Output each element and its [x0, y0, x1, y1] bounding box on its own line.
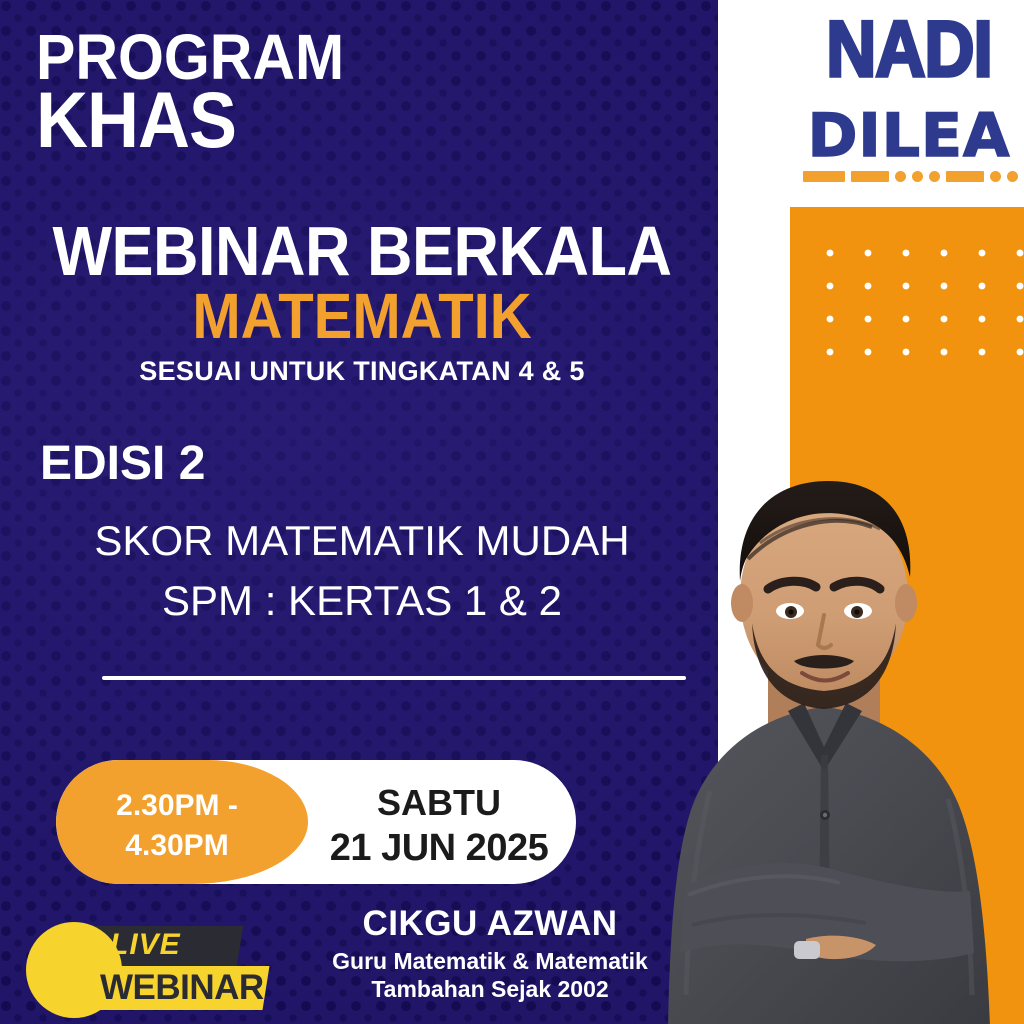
audience-label: SESUAI UNTUK TINGKATAN 4 & 5: [42, 358, 682, 385]
dilea-logo-bars: [801, 171, 1018, 182]
topic-line-1: SKOR MATEMATIK MUDAH: [42, 520, 682, 562]
dilea-logo-text: DILEA: [801, 106, 1018, 166]
dilea-dot-4: [990, 171, 1001, 182]
dilea-dot-2: [912, 171, 923, 182]
dilea-logo: DILEA: [801, 106, 1018, 182]
webinar-poster: NADI DILEA PROGRAM KHAS WEBINAR BERKALA …: [0, 0, 1024, 1024]
dilea-bar-3: [946, 171, 984, 182]
dilea-dot-3: [929, 171, 940, 182]
schedule-pill: 2.30PM - 4.30PM SABTU 21 JUN 2025: [56, 760, 576, 884]
live-label: LIVE: [110, 930, 181, 960]
section-divider: [102, 676, 686, 680]
edition-label: EDISI 2: [40, 440, 205, 488]
dilea-dot-1: [895, 171, 906, 182]
webinar-title: WEBINAR BERKALA: [42, 218, 682, 287]
schedule-time-line-2: 4.30PM: [82, 826, 272, 866]
schedule-date: 21 JUN 2025: [312, 829, 566, 867]
speaker-credit: CIKGU AZWAN Guru Matematik & Matematik T…: [300, 906, 680, 1003]
khas-label: KHAS: [36, 81, 236, 160]
dilea-bar-2: [851, 171, 889, 182]
dilea-bar-1: [803, 171, 845, 182]
orange-panel-dot-pattern: [826, 249, 1024, 359]
live-webinar-badge: LIVE WEBINAR: [26, 918, 266, 1022]
nadi-logo: NADI: [798, 10, 1020, 89]
schedule-day: SABTU: [312, 785, 566, 821]
speaker-role-line-1: Guru Matematik & Matematik: [300, 947, 680, 975]
topic-line-2: SPM : KERTAS 1 & 2: [42, 580, 682, 622]
speaker-role: Guru Matematik & Matematik Tambahan Seja…: [300, 947, 680, 1003]
dilea-dot-5: [1007, 171, 1018, 182]
speaker-name: CIKGU AZWAN: [300, 906, 680, 943]
schedule-time: 2.30PM - 4.30PM: [82, 786, 272, 865]
subject-title: MATEMATIK: [42, 285, 682, 349]
webinar-label: WEBINAR: [100, 970, 264, 1005]
speaker-role-line-2: Tambahan Sejak 2002: [300, 975, 680, 1003]
brand-logos: NADI DILEA: [800, 10, 1018, 187]
schedule-time-line-1: 2.30PM -: [82, 786, 272, 826]
